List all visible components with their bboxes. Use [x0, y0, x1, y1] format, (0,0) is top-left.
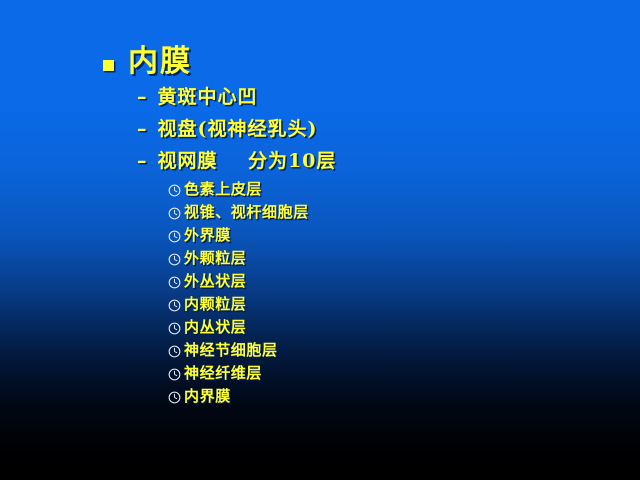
level3-item: 色素上皮层 [168, 182, 262, 197]
level3-item: 视锥、视杆细胞层 [168, 205, 309, 220]
level2-item-label: 黄斑中心凹 [158, 88, 258, 107]
clock-icon [168, 299, 181, 312]
dash-bullet-icon: – [137, 88, 147, 107]
clock-icon [168, 207, 181, 220]
level3-item-label: 神经纤维层 [184, 366, 262, 381]
slide-content: 内膜 – 黄斑中心凹 – 视盘(视神经乳头) – 视网膜 分为10层 色素上 [0, 0, 640, 480]
dash-bullet-icon: – [137, 120, 147, 139]
level3-item-label: 视锥、视杆细胞层 [184, 205, 309, 220]
level3-item: 内颗粒层 [168, 297, 246, 312]
slide-title-row: 内膜 [103, 47, 192, 77]
clock-icon [168, 322, 181, 335]
level3-item-label: 神经节细胞层 [184, 343, 278, 358]
dash-bullet-icon: – [137, 152, 147, 171]
clock-icon [168, 391, 181, 404]
clock-icon [168, 184, 181, 197]
clock-icon [168, 368, 181, 381]
level3-item-label: 内颗粒层 [184, 297, 246, 312]
clock-icon [168, 253, 181, 266]
level3-item-label: 外颗粒层 [184, 251, 246, 266]
level3-item: 外颗粒层 [168, 251, 246, 266]
square-bullet-icon [103, 60, 114, 71]
clock-icon [168, 230, 181, 243]
clock-icon [168, 276, 181, 289]
level3-item-label: 内界膜 [184, 389, 231, 404]
level3-item: 内界膜 [168, 389, 231, 404]
page-title: 内膜 [128, 47, 192, 77]
level3-item-label: 外界膜 [184, 228, 231, 243]
level2-item-label: 视盘(视神经乳头) [158, 120, 318, 139]
level3-item-label: 色素上皮层 [184, 182, 262, 197]
level2-item-label: 视网膜 分为10层 [158, 152, 337, 171]
level3-item: 神经纤维层 [168, 366, 262, 381]
level2-item: – 黄斑中心凹 [137, 88, 258, 107]
level3-item: 外丛状层 [168, 274, 246, 289]
level3-item: 内丛状层 [168, 320, 246, 335]
slide-canvas: 内膜 – 黄斑中心凹 – 视盘(视神经乳头) – 视网膜 分为10层 色素上 [0, 0, 640, 480]
level2-item: – 视网膜 分为10层 [137, 152, 336, 171]
level2-item: – 视盘(视神经乳头) [137, 120, 317, 139]
level3-item-label: 外丛状层 [184, 274, 246, 289]
clock-icon [168, 345, 181, 358]
level3-item: 外界膜 [168, 228, 231, 243]
level3-item-label: 内丛状层 [184, 320, 246, 335]
level3-item: 神经节细胞层 [168, 343, 278, 358]
